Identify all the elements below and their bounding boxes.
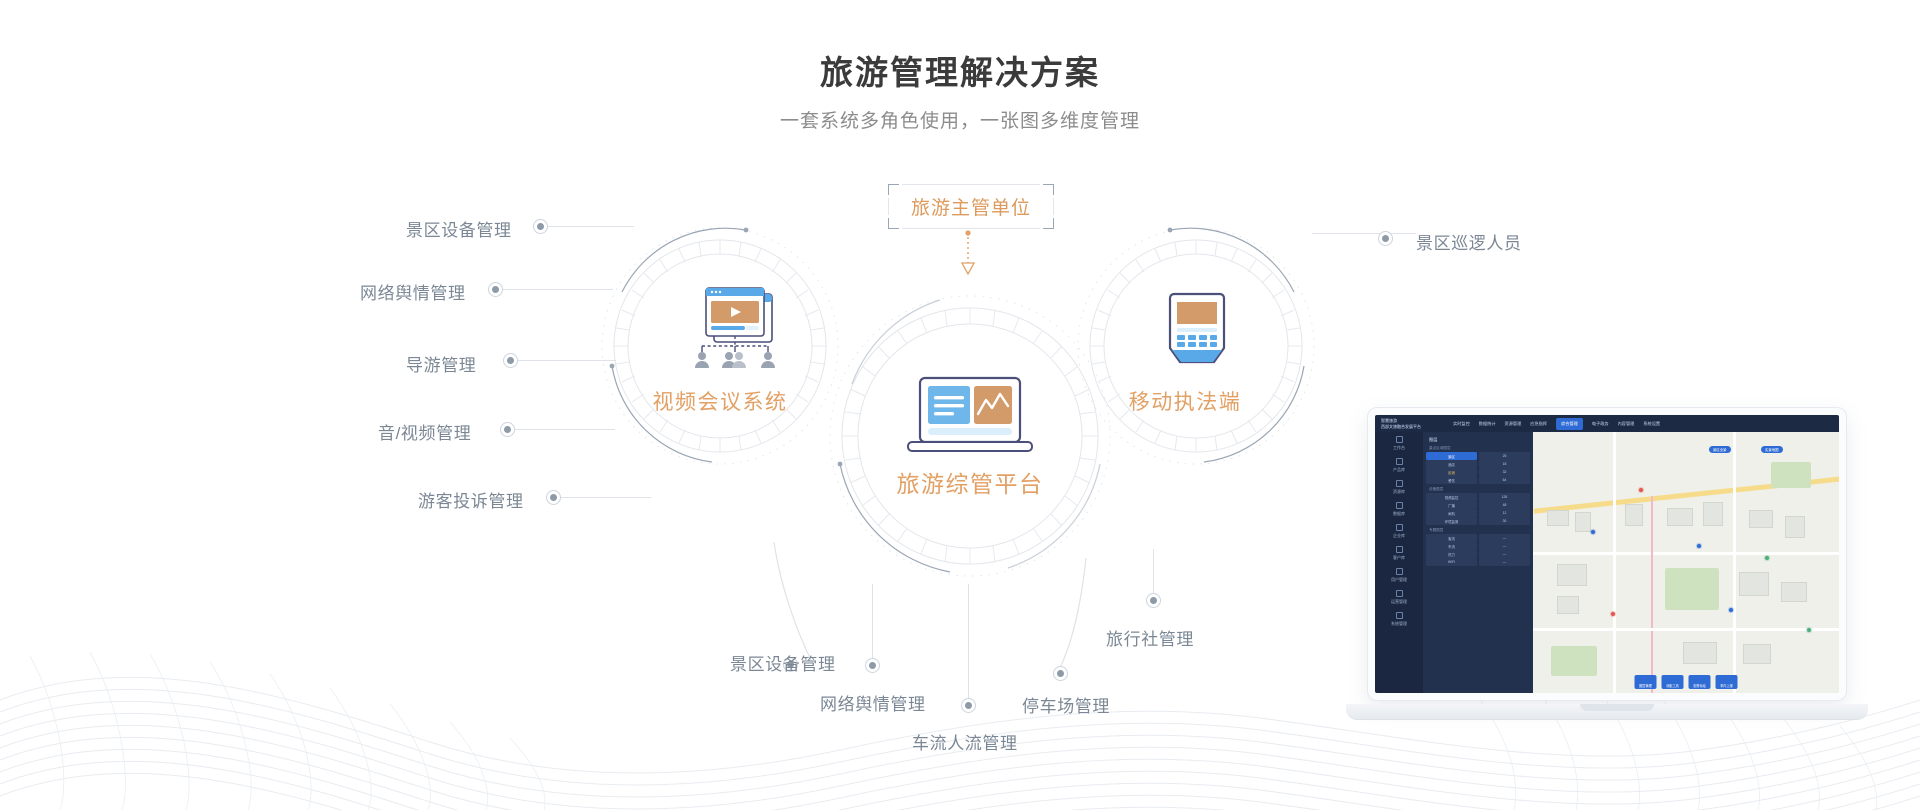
- layer-chip-count: 25: [1479, 452, 1530, 460]
- app-menu-item-5[interactable]: 电子政务: [1592, 421, 1609, 427]
- layer-group-title-2: 专题图层: [1426, 527, 1530, 534]
- layer-chip-count: 18: [1479, 460, 1530, 468]
- map-tool-0[interactable]: 图层管理: [1635, 675, 1657, 689]
- layer-chip-count: 126: [1479, 493, 1530, 501]
- layer-chip-count: 64: [1479, 476, 1530, 484]
- leader-left-4: [515, 429, 615, 430]
- sidebar-item-1[interactable]: 产品库: [1375, 454, 1423, 476]
- node-label-right-1: 景区巡逻人员: [1416, 229, 1522, 254]
- sidebar-label-7: 运营管理: [1391, 599, 1407, 605]
- authority-box: 旅游主管单位: [888, 184, 1054, 229]
- sidebar-icon-1: [1396, 458, 1403, 465]
- map-pin-alert[interactable]: [1639, 488, 1643, 492]
- layer-group-title-1: 设备图层: [1426, 486, 1530, 493]
- map-building: [1785, 516, 1805, 538]
- layer-row: 闸机 12: [1426, 509, 1530, 517]
- layer-chip[interactable]: 民宿: [1426, 468, 1477, 476]
- layer-chip-count: —: [1479, 550, 1530, 558]
- sidebar-icon-6: [1396, 568, 1403, 575]
- map-building: [1703, 502, 1723, 526]
- layer-chip[interactable]: 车流: [1426, 542, 1477, 550]
- layer-chip-count: 30: [1479, 517, 1530, 525]
- app-menu-item-1[interactable]: 数据统计: [1479, 421, 1496, 427]
- layer-row: 景区 25: [1426, 452, 1530, 460]
- node-label-left-5: 游客投诉管理: [418, 487, 524, 512]
- app-logo: 智慧旅游 西部文旅融合发展平台: [1375, 418, 1453, 430]
- sidebar-icon-7: [1396, 590, 1403, 597]
- node-dot-left-4[interactable]: [500, 422, 515, 437]
- laptop-screen: 智慧旅游 西部文旅融合发展平台 实时监控 数据统计 资源管理 应急指挥 综合管理…: [1368, 408, 1846, 700]
- node-label-bottom-5: 旅行社管理: [1106, 625, 1194, 650]
- layer-chip[interactable]: 景区: [1426, 452, 1477, 460]
- layer-chip-count: —: [1479, 542, 1530, 550]
- sidebar-icon-3: [1396, 502, 1403, 509]
- sidebar-item-4[interactable]: 企业库: [1375, 520, 1423, 542]
- sidebar-icon-4: [1396, 524, 1403, 531]
- leader-bottom-4: [1052, 556, 1092, 676]
- app-topbar: 智慧旅游 西部文旅融合发展平台 实时监控 数据统计 资源管理 应急指挥 综合管理…: [1375, 415, 1839, 432]
- layer-chip[interactable]: 餐饮: [1426, 476, 1477, 484]
- node-dot-left-2[interactable]: [488, 282, 503, 297]
- leader-left-3: [518, 360, 616, 361]
- map-building: [1667, 508, 1693, 526]
- layer-row: 酒店 18: [1426, 460, 1530, 468]
- map-pill-1[interactable]: 实景地图: [1761, 446, 1783, 453]
- node-label-bottom-2: 网络舆情管理: [820, 690, 926, 715]
- layer-chip[interactable]: WIFI: [1426, 558, 1477, 566]
- app-layer-panel: 图层 重点区域图层 景区 25 酒店 18 民宿 32: [1423, 432, 1533, 693]
- node-label-left-4: 音/视频管理: [378, 419, 471, 444]
- app-menu: 实时监控 数据统计 资源管理 应急指挥 综合管理 电子政务 内容管理 系统设置: [1453, 418, 1660, 430]
- node-dot-bottom-3[interactable]: [961, 698, 976, 713]
- node-dot-bottom-5[interactable]: [1146, 593, 1161, 608]
- circle-title-tourism-platform: 旅游综管平台: [850, 465, 1090, 499]
- layer-chip-count: 48: [1479, 501, 1530, 509]
- map-building: [1743, 644, 1771, 664]
- map-tool-2[interactable]: 态势标绘: [1689, 675, 1711, 689]
- node-dot-right-1[interactable]: [1378, 231, 1393, 246]
- authority-to-platform-arrow: [960, 229, 1002, 279]
- sidebar-item-8[interactable]: 系统管理: [1375, 608, 1423, 630]
- map-pin[interactable]: [1591, 530, 1595, 534]
- layer-chip[interactable]: 视频监控: [1426, 493, 1477, 501]
- node-label-bottom-3: 车流人流管理: [912, 729, 1018, 754]
- map-pin-ok[interactable]: [1765, 556, 1769, 560]
- layer-group-2: 专题图层 客流 — 车流 — 热力 —: [1426, 527, 1530, 566]
- app-menu-item-0[interactable]: 实时监控: [1453, 421, 1470, 427]
- sidebar-label-6: 用户管理: [1391, 577, 1407, 583]
- laptop-dashboard-icon: [906, 374, 1034, 460]
- map-building: [1749, 510, 1773, 528]
- circle-title-video-conference: 视频会议系统: [610, 386, 830, 416]
- page-title: 旅游管理解决方案: [0, 46, 1920, 94]
- layer-chip[interactable]: 广播: [1426, 501, 1477, 509]
- map-pin[interactable]: [1729, 608, 1733, 612]
- layer-row: 环境监测 30: [1426, 517, 1530, 525]
- layer-group-title-0: 重点区域图层: [1426, 445, 1530, 452]
- node-label-bottom-4: 停车场管理: [1022, 692, 1110, 717]
- map-building: [1739, 572, 1769, 596]
- leader-bottom-3: [968, 584, 969, 702]
- sidebar-label-0: 工作台: [1393, 445, 1405, 451]
- sidebar-item-2[interactable]: 资源库: [1375, 476, 1423, 498]
- map-tool-3[interactable]: 事件上报: [1716, 675, 1738, 689]
- solution-diagram-page: 旅游管理解决方案 一套系统多角色使用，一张图多维度管理 旅游主管单位: [0, 0, 1920, 810]
- map-pin-ok[interactable]: [1807, 628, 1811, 632]
- layer-chip[interactable]: 闸机: [1426, 509, 1477, 517]
- layer-chip[interactable]: 环境监测: [1426, 517, 1477, 525]
- map-building: [1575, 512, 1591, 532]
- layer-chip[interactable]: 酒店: [1426, 460, 1477, 468]
- layer-row: 民宿 32: [1426, 468, 1530, 476]
- map-pin[interactable]: [1697, 544, 1701, 548]
- sidebar-item-6[interactable]: 用户管理: [1375, 564, 1423, 586]
- leader-left-1: [548, 226, 634, 227]
- layer-panel-title: 图层: [1426, 435, 1530, 445]
- map-building: [1781, 582, 1807, 602]
- node-label-bottom-1: 景区设备管理: [730, 650, 836, 675]
- map-road-restricted: [1651, 496, 1653, 693]
- laptop-notch: [1580, 704, 1654, 711]
- sidebar-label-2: 资源库: [1393, 489, 1405, 495]
- map-road: [1533, 628, 1839, 631]
- handheld-terminal-icon: [1162, 292, 1232, 378]
- video-window-icon: [684, 286, 794, 378]
- map-building: [1625, 504, 1643, 526]
- circle-title-mobile-enforcement: 移动执法端: [1075, 386, 1295, 416]
- map-green-area: [1771, 462, 1811, 488]
- layer-chip[interactable]: 热力: [1426, 550, 1477, 558]
- leader-left-5: [561, 497, 651, 498]
- map-building: [1557, 564, 1587, 586]
- tourism-app-window: 智慧旅游 西部文旅融合发展平台 实时监控 数据统计 资源管理 应急指挥 综合管理…: [1375, 415, 1839, 693]
- layer-row: 餐饮 64: [1426, 476, 1530, 484]
- layer-row: 广播 48: [1426, 501, 1530, 509]
- map-toolbar: 图层管理 测距工具 态势标绘 事件上报: [1635, 675, 1738, 689]
- map-road: [1533, 552, 1839, 555]
- layer-chip-count: —: [1479, 558, 1530, 566]
- authority-label: 旅游主管单位: [888, 184, 1054, 229]
- app-sidebar: 工作台 产品库 资源库 数据库 企业库 客户库 用户管理 运营管理 系统管理: [1375, 432, 1423, 693]
- sidebar-label-1: 产品库: [1393, 467, 1405, 473]
- node-dot-left-5[interactable]: [546, 490, 561, 505]
- map-green-area: [1551, 646, 1597, 676]
- map-building: [1557, 596, 1579, 614]
- layer-group-1: 设备图层 视频监控 126 广播 48 闸机 12: [1426, 486, 1530, 525]
- app-menu-item-4[interactable]: 综合管理: [1556, 418, 1583, 430]
- sidebar-label-4: 企业库: [1393, 533, 1405, 539]
- sidebar-icon-8: [1396, 612, 1403, 619]
- app-menu-item-2[interactable]: 资源管理: [1505, 421, 1522, 427]
- sidebar-icon-0: [1396, 436, 1403, 443]
- layer-row: 车流 —: [1426, 542, 1530, 550]
- node-dot-bottom-4[interactable]: [1053, 666, 1068, 681]
- map-road: [1733, 432, 1736, 693]
- layer-row: 热力 —: [1426, 550, 1530, 558]
- app-logo-line2: 西部文旅融合发展平台: [1381, 424, 1453, 430]
- layer-row: 视频监控 126: [1426, 493, 1530, 501]
- map-tool-1[interactable]: 测距工具: [1662, 675, 1684, 689]
- app-menu-item-3[interactable]: 应急指挥: [1530, 421, 1547, 427]
- sidebar-item-3[interactable]: 数据库: [1375, 498, 1423, 520]
- layer-chip-count: 32: [1479, 468, 1530, 476]
- layer-chip-count: 12: [1479, 509, 1530, 517]
- node-label-left-2: 网络舆情管理: [360, 279, 466, 304]
- map-building: [1547, 510, 1569, 526]
- laptop-mockup: 智慧旅游 西部文旅融合发展平台 实时监控 数据统计 资源管理 应急指挥 综合管理…: [1368, 408, 1866, 738]
- sidebar-item-0[interactable]: 工作台: [1375, 432, 1423, 454]
- app-map-canvas[interactable]: 景区全景 实景地图 图层管理 测距工具 态势标绘 事件上报: [1533, 432, 1839, 693]
- leader-left-2: [503, 289, 613, 290]
- node-dot-bottom-2[interactable]: [865, 658, 880, 673]
- sidebar-label-5: 客户库: [1393, 555, 1405, 561]
- sidebar-item-5[interactable]: 客户库: [1375, 542, 1423, 564]
- app-menu-item-6[interactable]: 内容管理: [1618, 421, 1635, 427]
- map-pill-0[interactable]: 景区全景: [1709, 446, 1731, 453]
- map-road: [1613, 432, 1616, 693]
- app-menu-item-7[interactable]: 系统设置: [1643, 421, 1660, 427]
- node-label-left-3: 导游管理: [406, 351, 476, 376]
- sidebar-item-7[interactable]: 运营管理: [1375, 586, 1423, 608]
- map-pin-alert[interactable]: [1611, 612, 1615, 616]
- map-green-area: [1665, 568, 1719, 610]
- sidebar-label-3: 数据库: [1393, 511, 1405, 517]
- layer-row: WIFI —: [1426, 558, 1530, 566]
- node-dot-left-3[interactable]: [503, 353, 518, 368]
- sidebar-icon-2: [1396, 480, 1403, 487]
- node-dot-left-1[interactable]: [533, 219, 548, 234]
- sidebar-icon-5: [1396, 546, 1403, 553]
- layer-chip[interactable]: 客流: [1426, 534, 1477, 542]
- node-label-left-1: 景区设备管理: [406, 216, 512, 241]
- layer-chip-count: —: [1479, 534, 1530, 542]
- layer-group-0: 重点区域图层 景区 25 酒店 18 民宿 32: [1426, 445, 1530, 484]
- leader-right-1: [1312, 233, 1416, 234]
- layer-row: 客流 —: [1426, 534, 1530, 542]
- sidebar-label-8: 系统管理: [1391, 621, 1407, 627]
- map-building: [1683, 642, 1717, 664]
- page-subtitle: 一套系统多角色使用，一张图多维度管理: [0, 106, 1920, 133]
